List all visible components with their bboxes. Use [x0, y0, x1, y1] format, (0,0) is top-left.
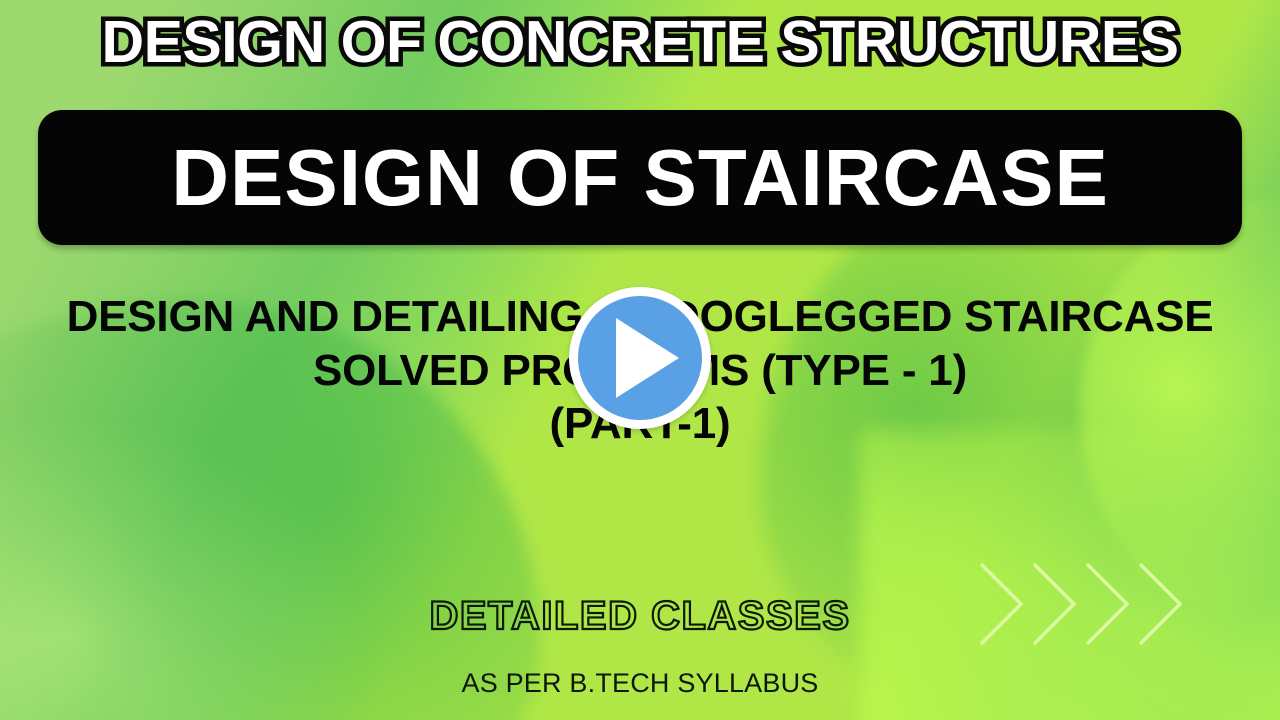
course-headline: DESIGN OF CONCRETE STRUCTURES: [0, 12, 1280, 74]
video-thumbnail: DESIGN OF CONCRETE STRUCTURES DESIGN OF …: [0, 0, 1280, 720]
channel-tagline: DETAILED CLASSES: [0, 594, 1280, 639]
banner-title: DESIGN OF STAIRCASE: [171, 138, 1109, 218]
play-button[interactable]: [569, 287, 711, 429]
title-banner: DESIGN OF STAIRCASE: [38, 110, 1242, 245]
syllabus-subtitle: AS PER B.TECH SYLLABUS: [0, 668, 1280, 699]
play-triangle-icon: [616, 318, 679, 398]
